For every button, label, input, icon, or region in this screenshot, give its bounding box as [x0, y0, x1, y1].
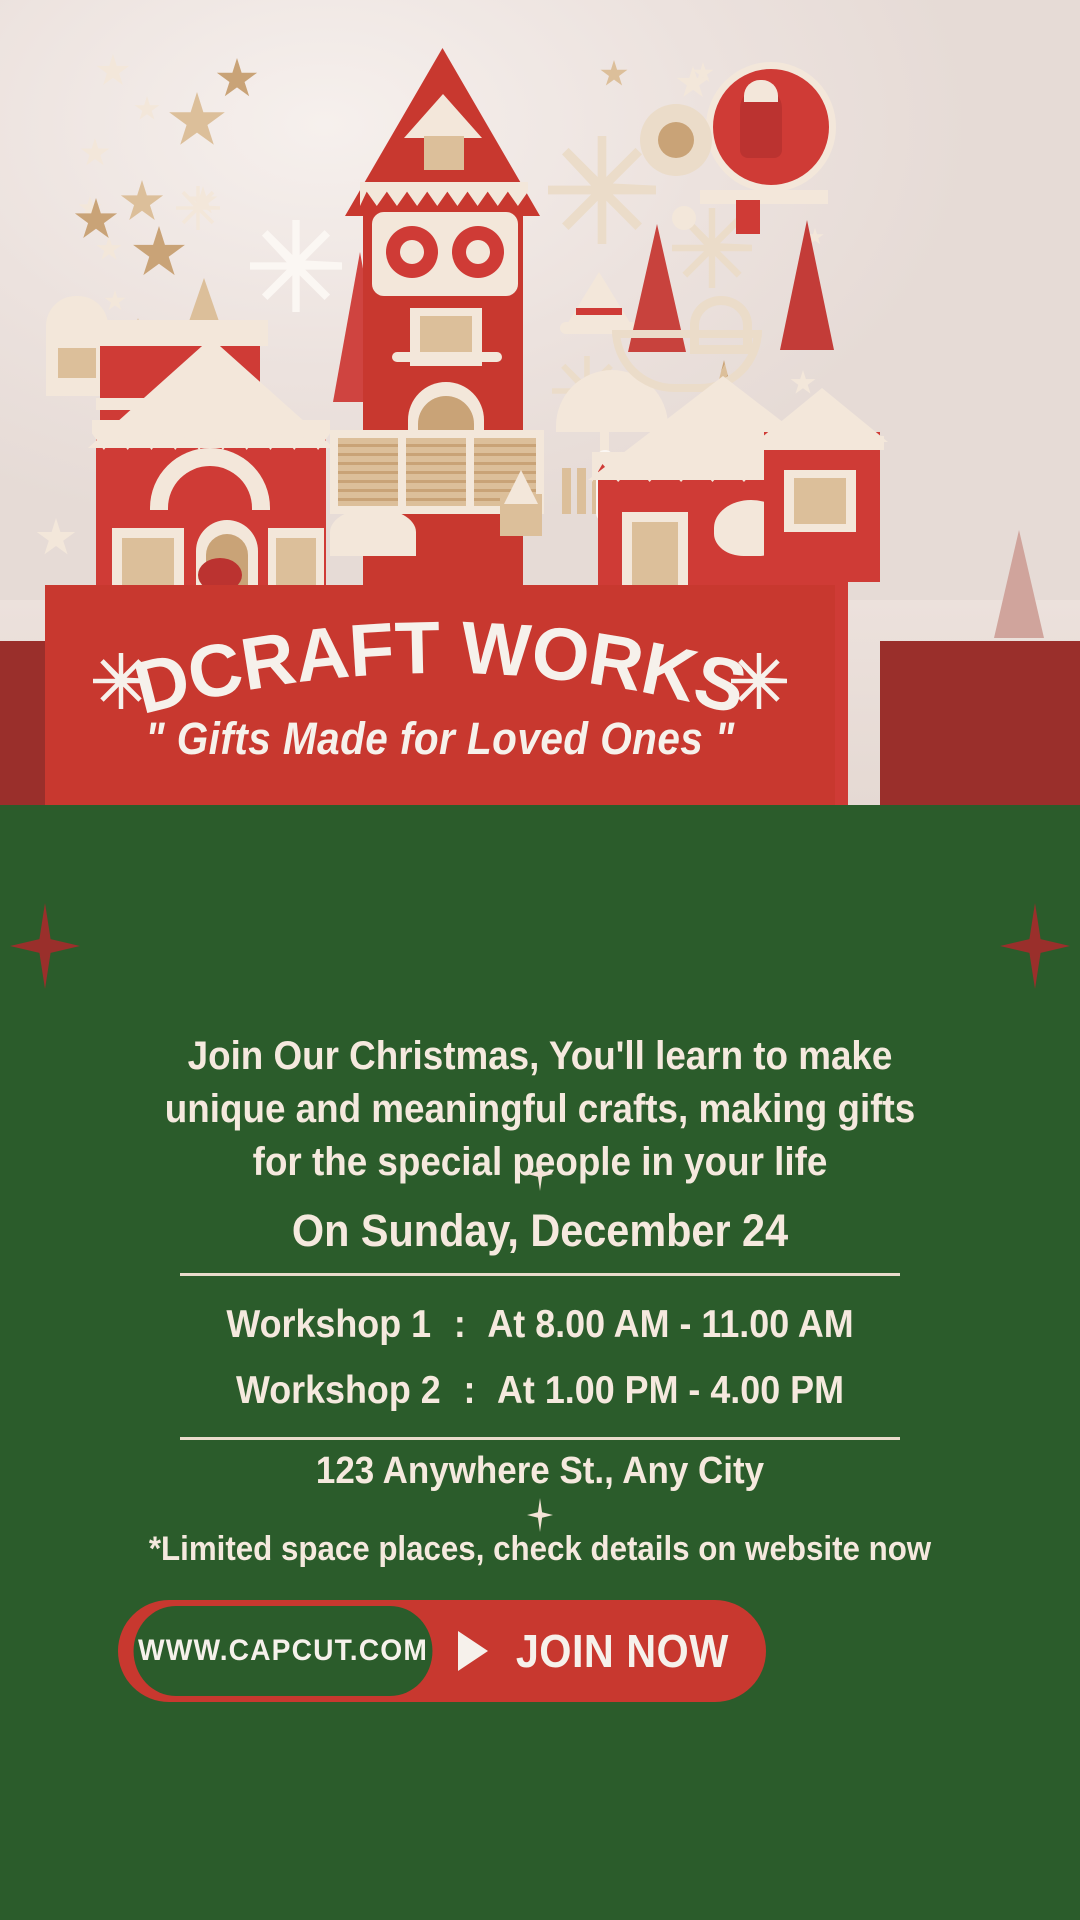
schedule-time-1: At 8.00 AM - 11.00 AM [487, 1303, 853, 1346]
santa-hat-icon [744, 80, 778, 102]
poster-root: HANDCRAFT WORKSHOP " Gifts Made for Love… [0, 0, 1080, 1920]
main-house-balcony-rail [392, 352, 502, 362]
window-pane [794, 478, 846, 524]
limited-space-note: *Limited space places, check details on … [43, 1530, 1037, 1569]
main-house-attic-window [424, 136, 464, 170]
snow-mound [330, 508, 416, 556]
schedule-row-1: Workshop 1 : At 8.00 AM - 11.00 AM [43, 1303, 1037, 1347]
santa-shelf [700, 190, 828, 204]
medallion-swirl-inner-r [466, 240, 490, 264]
spinning-top-stripe [576, 308, 622, 315]
event-date: On Sunday, December 24 [43, 1205, 1037, 1257]
ribbon-panel: HANDCRAFT WORKSHOP " Gifts Made for Love… [45, 585, 835, 807]
schedule-label-1: Workshop 1 [226, 1303, 431, 1346]
schedule-label-2: Workshop 2 [236, 1369, 441, 1412]
join-now-label: JOIN NOW [516, 1624, 729, 1678]
slat-shutter-panel [338, 438, 398, 506]
schedule-separator-1: : [441, 1303, 479, 1346]
medallion-swirl-inner-l [400, 240, 424, 264]
website-url-button[interactable]: WWW.CAPCUT.COM [134, 1606, 433, 1696]
svg-text:HANDCRAFT WORKSHOP: HANDCRAFT WORKSHOP [45, 613, 754, 725]
santa-shelf-bracket [736, 200, 760, 234]
divider-rule-bottom [180, 1437, 900, 1440]
schedule-row-2: Workshop 2 : At 1.00 PM - 4.00 PM [43, 1369, 1037, 1413]
small-ball-icon [672, 206, 696, 230]
slat-shutter-panel [406, 438, 466, 506]
divider-rule-top [180, 1273, 900, 1276]
candy-cane-icon [690, 296, 752, 354]
tower-house-roof [92, 320, 268, 346]
window-pane [632, 522, 678, 586]
small-house-window [58, 348, 96, 378]
event-address: 123 Anywhere St., Any City [43, 1450, 1037, 1493]
schedule-separator-2: : [451, 1369, 489, 1412]
details-panel: Join Our Christmas, You'll learn to make… [0, 805, 1080, 1920]
sparkle-diamond-icon [10, 903, 80, 989]
page-title: HANDCRAFT WORKSHOP [45, 613, 835, 723]
four-point-star-icon [527, 1498, 553, 1532]
play-triangle-icon [458, 1631, 488, 1671]
doily-wreath-inner [658, 122, 694, 158]
bottle-brush-tree-icon [778, 220, 836, 350]
far-right-house-trim [760, 436, 884, 450]
sparkle-diamond-icon [1000, 903, 1070, 989]
cta-bar[interactable]: WWW.CAPCUT.COM JOIN NOW [118, 1600, 766, 1702]
schedule-time-2: At 1.00 PM - 4.00 PM [497, 1369, 844, 1412]
join-now-button[interactable]: JOIN NOW [458, 1600, 741, 1702]
page-subtitle: " Gifts Made for Loved Ones " [85, 713, 796, 765]
